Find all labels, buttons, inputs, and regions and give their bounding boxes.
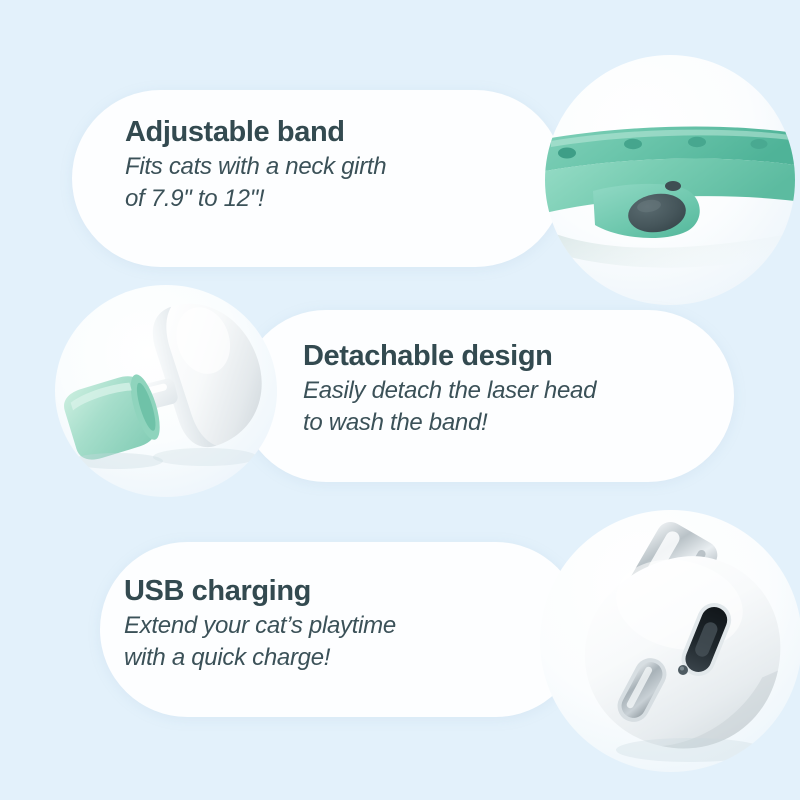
band-hole (558, 148, 576, 159)
buckle-pin (665, 181, 681, 191)
usb-charging-port-photo (540, 510, 800, 772)
laser-head-body (145, 286, 277, 454)
body-shadow (616, 738, 764, 762)
band-shadow (547, 231, 795, 268)
feature-heading: USB charging (124, 575, 504, 607)
photo-bubble-detachable-design (55, 285, 277, 497)
detached-laser-head-photo (55, 285, 277, 497)
feature-subtitle-line-1: Easily detach the laser head (303, 375, 698, 407)
band-hole (751, 139, 768, 149)
green-silicone-collar-band-photo (545, 55, 795, 305)
feature-subtitle-line-1: Fits cats with a neck girth (125, 151, 505, 183)
feature-text-adjustable-band: Adjustable band Fits cats with a neck gi… (125, 116, 505, 215)
feature-infographic: Adjustable band Fits cats with a neck gi… (0, 0, 800, 800)
feature-subtitle: Extend your cat’s playtime with a quick … (124, 610, 504, 673)
band-hole (624, 139, 642, 149)
feature-text-detachable-design: Detachable design Easily detach the lase… (303, 340, 698, 439)
feature-subtitle: Fits cats with a neck girth of 7.9" to 1… (125, 151, 505, 214)
led-indicator-glint (680, 667, 684, 671)
feature-heading: Adjustable band (125, 116, 505, 148)
feature-subtitle-line-1: Extend your cat’s playtime (124, 610, 504, 642)
head-shadow (153, 448, 257, 466)
laser-head-body (568, 536, 798, 766)
sleeve-shadow (71, 453, 163, 469)
feature-heading: Detachable design (303, 340, 698, 372)
photo-bubble-usb-charging (540, 510, 800, 772)
feature-subtitle: Easily detach the laser head to wash the… (303, 375, 698, 438)
band-hole (688, 137, 706, 147)
feature-subtitle-line-2: with a quick charge! (124, 642, 504, 674)
feature-text-usb-charging: USB charging Extend your cat’s playtime … (124, 575, 504, 674)
feature-subtitle-line-2: of 7.9" to 12"! (125, 183, 505, 215)
photo-bubble-adjustable-band (545, 55, 795, 305)
feature-subtitle-line-2: to wash the band! (303, 407, 698, 439)
